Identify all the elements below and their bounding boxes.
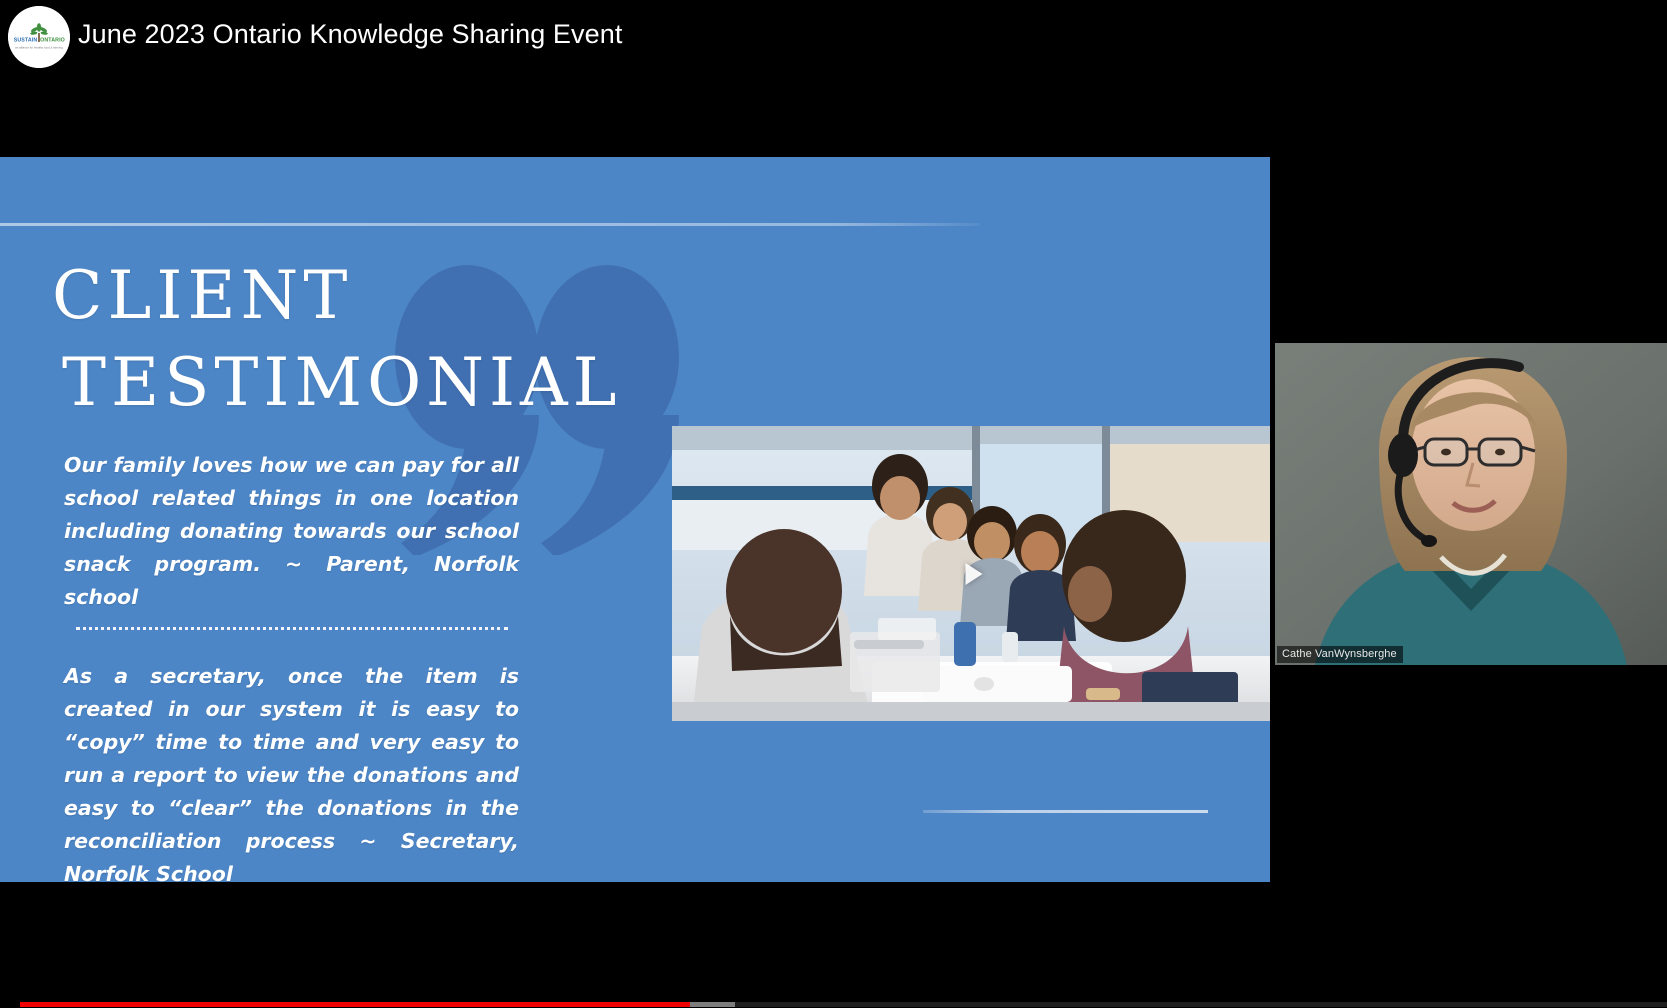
testimonial-quote-2-text: As a secretary, once the item is created… (64, 664, 519, 853)
sustain-ontario-logo-icon: SUSTAIN ONTARIO an alliance for healthy … (8, 6, 70, 68)
testimonial-separator (76, 627, 508, 630)
slide-title-line-2: TESTIMONIAL (62, 339, 622, 426)
speaker-webcam-tile[interactable]: Cathe VanWynsberghe (1275, 343, 1667, 665)
slide-title: CLIENT TESTIMONIAL (52, 252, 622, 426)
slide-title-line-1: CLIENT (52, 252, 622, 339)
testimonial-block: Our family loves how we can pay for all … (64, 449, 519, 882)
slide-top-divider (0, 223, 980, 226)
play-icon[interactable] (966, 563, 983, 585)
presentation-slide: CLIENT TESTIMONIAL Our family loves how … (0, 157, 1270, 882)
video-title-bar: SUSTAIN ONTARIO an alliance for healthy … (0, 0, 1667, 78)
slide-bottom-divider (923, 810, 1208, 813)
testimonial-quote-1: Our family loves how we can pay for all … (64, 449, 519, 614)
speaker-video-image (1275, 343, 1667, 665)
classroom-students-photo[interactable] (672, 426, 1270, 721)
svg-text:ONTARIO: ONTARIO (40, 38, 65, 44)
progress-played (20, 1002, 690, 1007)
video-title[interactable]: June 2023 Ontario Knowledge Sharing Even… (78, 19, 622, 50)
player-controls-bar (0, 994, 1667, 1008)
svg-text:an alliance for healthy food &: an alliance for healthy food & farming (15, 46, 63, 50)
svg-text:SUSTAIN: SUSTAIN (14, 38, 38, 44)
sustain-ontario-logo[interactable]: SUSTAIN ONTARIO an alliance for healthy … (8, 6, 70, 68)
progress-scrubber[interactable] (20, 1002, 1667, 1007)
testimonial-quote-2: As a secretary, once the item is created… (64, 660, 519, 882)
video-player-root: SUSTAIN ONTARIO an alliance for healthy … (0, 0, 1667, 1008)
participant-name-label: Cathe VanWynsberghe (1277, 646, 1403, 663)
